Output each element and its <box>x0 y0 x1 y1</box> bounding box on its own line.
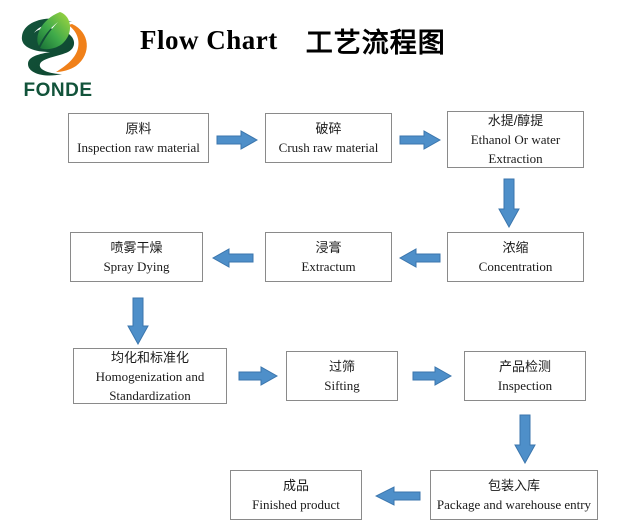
node-homogenization[interactable]: 均化和标准化 Homogenization and Standardizatio… <box>73 348 227 404</box>
node-label-en: Sifting <box>324 376 359 395</box>
node-inspection[interactable]: 产品检测 Inspection <box>464 351 586 401</box>
node-extractum[interactable]: 浸膏 Extractum <box>265 232 392 282</box>
node-label-cn: 水提/醇提 <box>488 111 544 130</box>
node-label-cn: 浸膏 <box>315 238 341 257</box>
arrow-extraction-to-concentration <box>498 178 520 228</box>
node-label-cn: 喷雾干燥 <box>110 238 162 257</box>
arrow-spray-drying-to-homogenization <box>127 297 149 345</box>
node-package[interactable]: 包装入库 Package and warehouse entry <box>430 470 598 520</box>
page-title-chinese: 工艺流程图 <box>306 21 446 60</box>
node-label-en: Homogenization and <box>96 367 205 386</box>
node-extraction[interactable]: 水提/醇提 Ethanol Or water Extraction <box>447 111 584 168</box>
arrow-inspection-to-package <box>514 414 536 464</box>
node-label-en: Crush raw material <box>279 138 379 157</box>
node-label-en: Ethanol Or water <box>471 130 561 149</box>
page-title: Flow Chart 工艺流程图 <box>140 18 560 62</box>
node-label-en: Extractum <box>301 257 355 276</box>
arrow-package-to-finished <box>375 486 421 506</box>
node-label-en-2: Extraction <box>488 149 542 168</box>
node-label-cn: 产品检测 <box>499 357 551 376</box>
node-label-en: Inspection raw material <box>77 138 200 157</box>
page-title-english: Flow Chart <box>140 25 278 56</box>
node-label-en: Package and warehouse entry <box>437 495 591 514</box>
node-label-cn: 包装入库 <box>488 476 540 495</box>
arrow-extractum-to-spray-drying <box>212 248 254 268</box>
flow-chart-canvas: FONDE Flow Chart 工艺流程图 原料 Inspection raw… <box>0 0 625 527</box>
node-label-cn: 过筛 <box>329 357 355 376</box>
node-label-en: Inspection <box>498 376 552 395</box>
arrow-raw-material-to-crush <box>216 130 258 150</box>
node-raw-material[interactable]: 原料 Inspection raw material <box>68 113 209 163</box>
arrow-homogenization-to-sifting <box>238 366 278 386</box>
arrow-sifting-to-inspection <box>412 366 452 386</box>
node-crush[interactable]: 破碎 Crush raw material <box>265 113 392 163</box>
node-spray-drying[interactable]: 喷雾干燥 Spray Dying <box>70 232 203 282</box>
node-finished-product[interactable]: 成品 Finished product <box>230 470 362 520</box>
node-label-en: Finished product <box>252 495 340 514</box>
node-label-cn: 成品 <box>283 476 309 495</box>
arrow-crush-to-extraction <box>399 130 441 150</box>
node-concentration[interactable]: 浓缩 Concentration <box>447 232 584 282</box>
node-label-cn: 均化和标准化 <box>111 348 189 367</box>
node-label-en-2: Standardization <box>109 386 191 405</box>
fonde-leaf-swoosh-logo-icon <box>10 8 102 80</box>
fonde-wordmark: FONDE <box>14 80 102 102</box>
node-label-cn: 破碎 <box>315 119 341 138</box>
node-label-en: Spray Dying <box>103 257 169 276</box>
node-label-en: Concentration <box>479 257 553 276</box>
fonde-logo: FONDE <box>10 8 102 104</box>
node-sifting[interactable]: 过筛 Sifting <box>286 351 398 401</box>
node-label-cn: 原料 <box>125 119 151 138</box>
node-label-cn: 浓缩 <box>502 238 528 257</box>
arrow-concentration-to-extractum <box>399 248 441 268</box>
